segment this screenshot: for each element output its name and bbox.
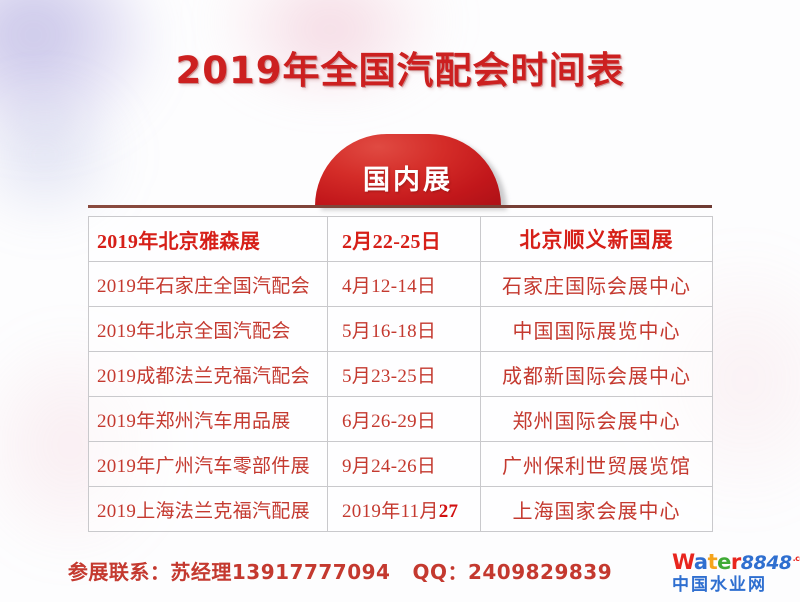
table-row: 2019年石家庄全国汽配会4月12-14日石家庄国际会展中心 [89, 262, 713, 307]
logo-tld: .com [793, 554, 800, 563]
cell-exhibition-date: 4月12-14日 [328, 262, 481, 307]
table-row: 2019年北京雅森展2月22-25日北京顺义新国展 [89, 217, 713, 262]
contact-label: 参展联系： [68, 560, 171, 584]
cell-exhibition-name: 2019年广州汽车零部件展 [89, 442, 328, 487]
cell-exhibition-venue: 广州保利世贸展览馆 [481, 442, 713, 487]
cell-exhibition-venue: 中国国际展览中心 [481, 307, 713, 352]
qq-label: QQ： [412, 560, 468, 584]
cell-exhibition-name: 2019年石家庄全国汽配会 [89, 262, 328, 307]
cell-exhibition-name: 2019年郑州汽车用品展 [89, 397, 328, 442]
cell-exhibition-date: 6月26-29日 [328, 397, 481, 442]
poster-canvas: 2019年全国汽配会时间表 国内展 2019年北京雅森展2月22-25日北京顺义… [0, 0, 800, 602]
logo-letter-w: W [672, 550, 694, 574]
table-row: 2019上海法兰克福汽配展2019年11月27上海国家会展中心 [89, 487, 713, 532]
logo-chinese-name: 中国水业网 [672, 577, 796, 594]
table-row: 2019年郑州汽车用品展6月26-29日郑州国际会展中心 [89, 397, 713, 442]
cell-exhibition-venue: 上海国家会展中心 [481, 487, 713, 532]
page-title: 2019年全国汽配会时间表 [0, 40, 800, 94]
logo-letter-e: e [717, 550, 731, 574]
cell-exhibition-name: 2019年北京全国汽配会 [89, 307, 328, 352]
logo-letter-a: a [694, 550, 708, 574]
table-row: 2019成都法兰克福汽配会5月23-25日成都新国际会展中心 [89, 352, 713, 397]
cell-exhibition-date: 2月22-25日 [328, 217, 481, 262]
divider-rule [88, 205, 712, 208]
exhibition-schedule-table: 2019年北京雅森展2月22-25日北京顺义新国展2019年石家庄全国汽配会4月… [88, 216, 713, 532]
table-row: 2019年北京全国汽配会5月16-18日中国国际展览中心 [89, 307, 713, 352]
logo-wordmark: Water8848.com [672, 552, 796, 573]
cell-exhibition-date: 2019年11月27 [328, 487, 481, 532]
qq-number[interactable]: 2409829839 [468, 560, 612, 584]
banner-label: 国内展 [315, 158, 501, 197]
cell-exhibition-name: 2019成都法兰克福汽配会 [89, 352, 328, 397]
logo-letter-r: r [731, 550, 741, 574]
cell-exhibition-date: 9月24-26日 [328, 442, 481, 487]
contact-person: 苏经理 [170, 560, 232, 584]
banner-arch-shape: 国内展 [315, 134, 501, 206]
cell-exhibition-name: 2019年北京雅森展 [89, 217, 328, 262]
cell-exhibition-venue: 成都新国际会展中心 [481, 352, 713, 397]
cell-exhibition-date: 5月23-25日 [328, 352, 481, 397]
logo-number: 8848 [741, 552, 792, 574]
cell-exhibition-name: 2019上海法兰克福汽配展 [89, 487, 328, 532]
cell-exhibition-date: 5月16-18日 [328, 307, 481, 352]
table-row: 2019年广州汽车零部件展9月24-26日广州保利世贸展览馆 [89, 442, 713, 487]
watermark-logo[interactable]: Water8848.com 中国水业网 [672, 552, 796, 598]
cell-exhibition-venue: 石家庄国际会展中心 [481, 262, 713, 307]
footer-contact-line: 参展联系：苏经理13917777094QQ：2409829839 [0, 556, 680, 585]
contact-phone[interactable]: 13917777094 [232, 560, 391, 584]
cell-exhibition-venue: 郑州国际会展中心 [481, 397, 713, 442]
section-banner: 国内展 [310, 131, 510, 209]
logo-letter-t: t [708, 550, 718, 574]
date-emphasis: 27 [439, 501, 459, 522]
cell-exhibition-venue: 北京顺义新国展 [481, 217, 713, 262]
